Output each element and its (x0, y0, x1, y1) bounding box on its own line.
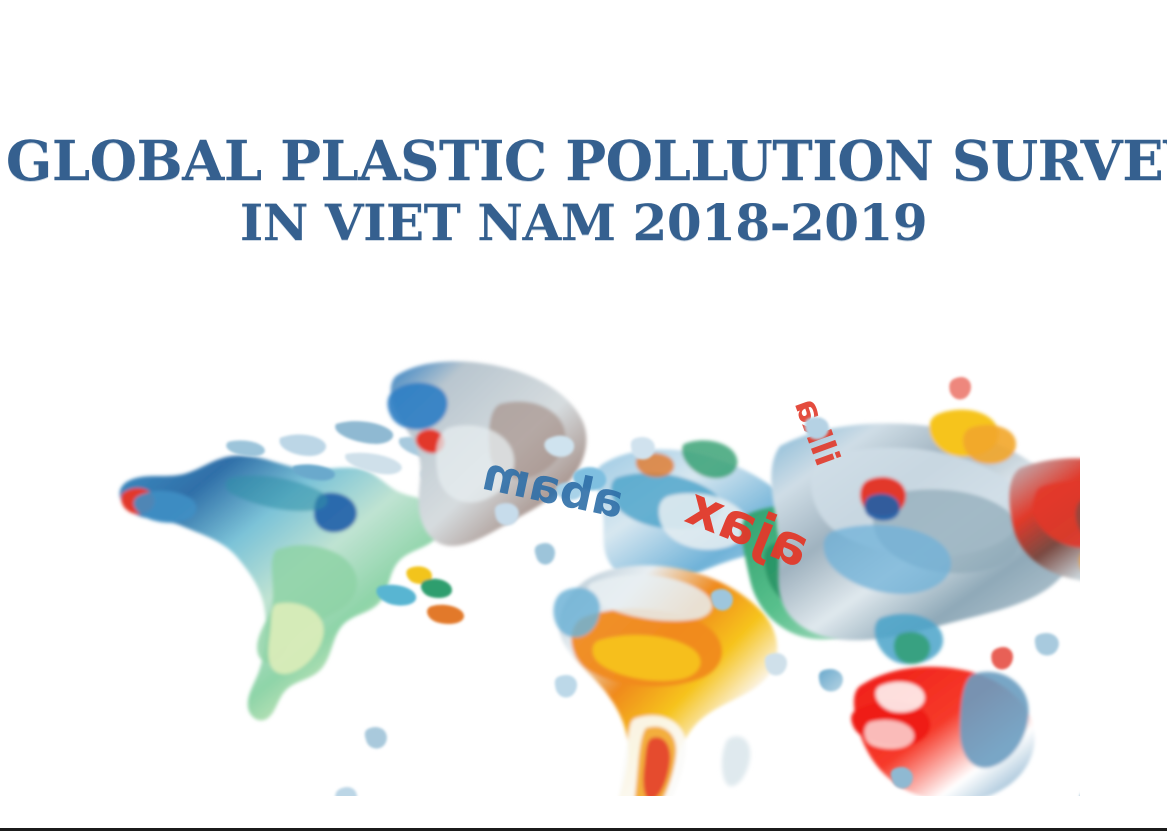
world-map-image: abam (80, 318, 1080, 796)
map-region-africa (553, 565, 777, 796)
title-line-2: IN VIET NAM 2018-2019 (0, 196, 1167, 250)
map-region-australia (851, 667, 1034, 796)
map-region-new-zealand (1079, 765, 1080, 796)
poster-title: GLOBAL PLASTIC POLLUTION SURVEY IN VIET … (0, 132, 1167, 250)
poster-canvas: GLOBAL PLASTIC POLLUTION SURVEY IN VIET … (0, 0, 1167, 831)
world-map-svg: abam (80, 318, 1080, 796)
title-line-1: GLOBAL PLASTIC POLLUTION SURVEY (6, 132, 1161, 190)
